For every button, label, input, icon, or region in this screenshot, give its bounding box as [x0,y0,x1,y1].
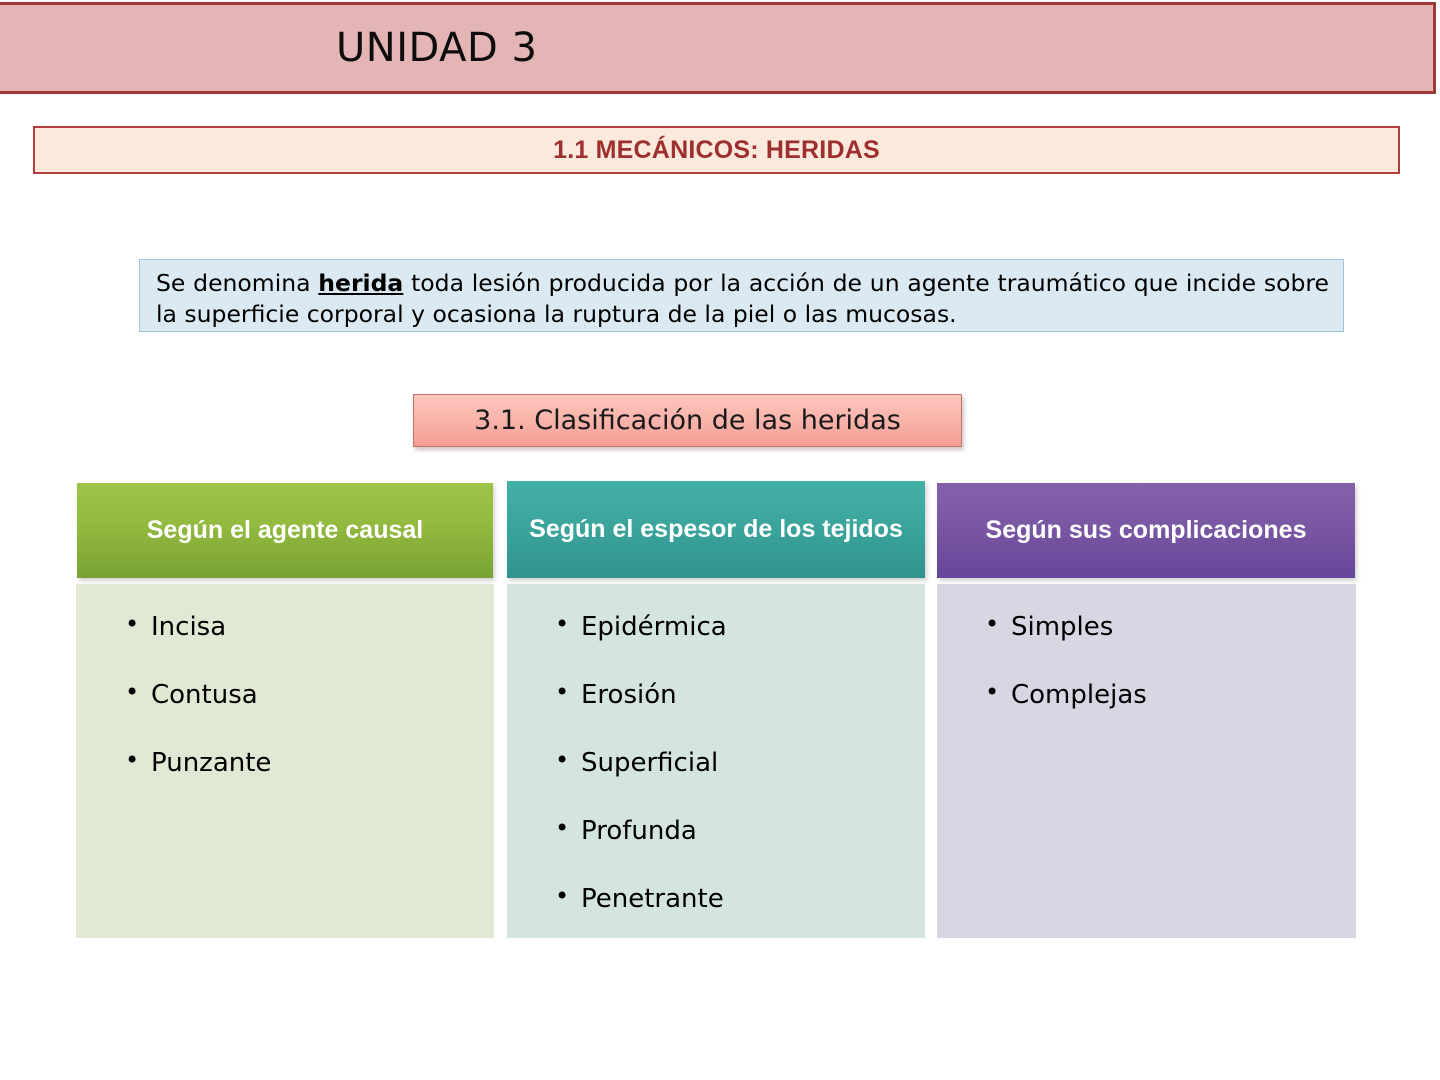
bullet-list-complications: Simples Complejas [937,614,1356,708]
page-title: UNIDAD 3 [336,25,537,71]
column-body-tissue-thickness: Epidérmica Erosión Superficial Profunda … [507,584,925,938]
definition-text: Se denomina herida toda lesión producida… [156,268,1329,330]
column-header-complications: Según sus complicaciones [937,483,1355,578]
list-item: Penetrante [555,886,925,912]
classification-columns: Según el agente causal Incisa Contusa Pu… [76,480,1356,938]
classification-column-tissue-thickness: Según el espesor de los tejidos Epidérmi… [507,480,925,938]
list-item: Profunda [555,818,925,844]
classification-banner-text: 3.1. Clasificación de las heridas [474,405,901,436]
unit-header-bar: UNIDAD 3 [0,2,1436,94]
column-header-agent-causal: Según el agente causal [77,483,493,578]
classification-column-complications: Según sus complicaciones Simples Complej… [937,480,1356,938]
list-item: Erosión [555,682,925,708]
list-item: Incisa [125,614,494,640]
column-body-complications: Simples Complejas [937,584,1356,938]
list-item: Epidérmica [555,614,925,640]
list-item: Contusa [125,682,494,708]
list-item: Simples [985,614,1356,640]
section-subtitle-text: 1.1 MECÁNICOS: HERIDAS [553,136,880,165]
list-item: Superficial [555,750,925,776]
section-subtitle-bar: 1.1 MECÁNICOS: HERIDAS [33,126,1400,174]
bullet-list-tissue-thickness: Epidérmica Erosión Superficial Profunda … [507,614,925,912]
column-header-tissue-thickness: Según el espesor de los tejidos [507,481,925,578]
definition-lead: Se denomina [156,269,318,297]
classification-column-agent-causal: Según el agente causal Incisa Contusa Pu… [76,480,494,938]
column-body-agent-causal: Incisa Contusa Punzante [76,584,494,938]
list-item: Complejas [985,682,1356,708]
list-item: Punzante [125,750,494,776]
definition-callout: Se denomina herida toda lesión producida… [139,259,1344,332]
bullet-list-agent-causal: Incisa Contusa Punzante [76,614,494,776]
classification-banner: 3.1. Clasificación de las heridas [413,394,962,447]
definition-keyword: herida [318,269,403,297]
